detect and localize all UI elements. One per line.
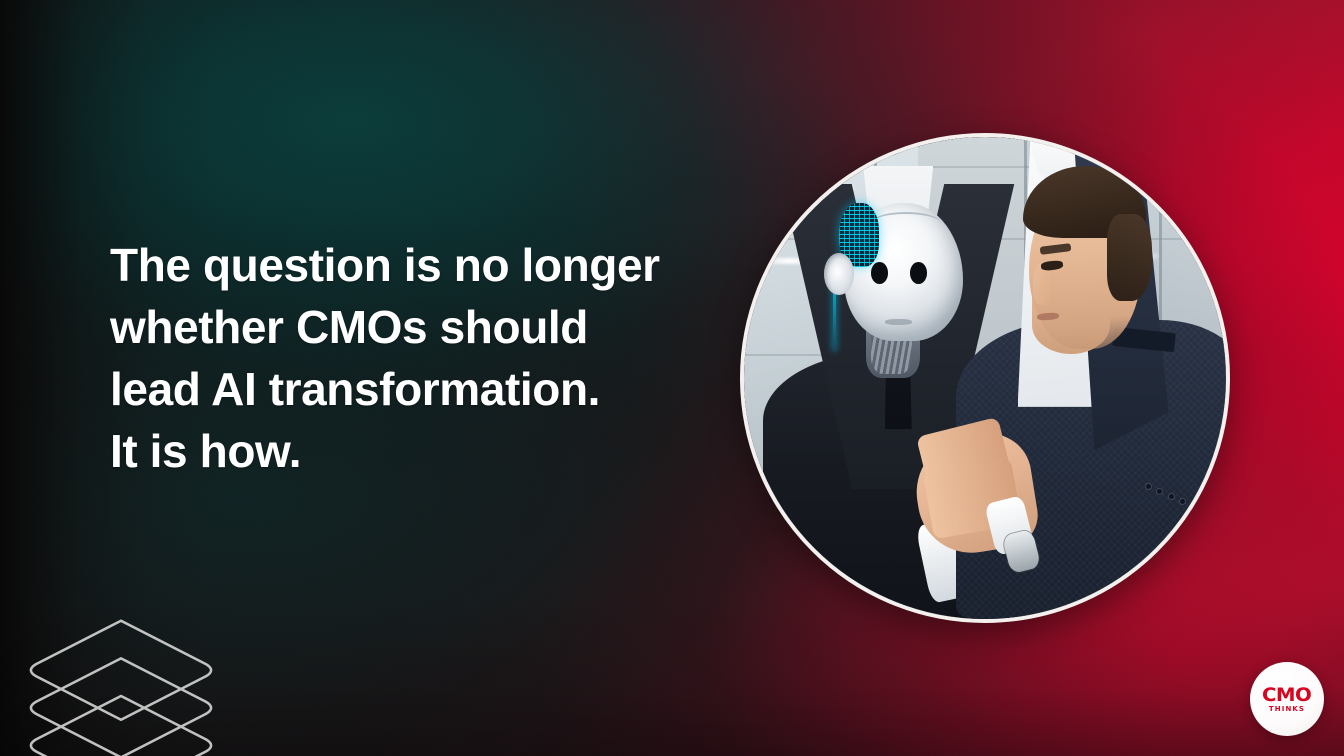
diamond-outline-top (31, 621, 211, 720)
headline: The question is no longer whether CMOs s… (110, 234, 710, 482)
social-card-canvas: The question is no longer whether CMOs s… (0, 0, 1344, 756)
hero-photo-circle (740, 133, 1230, 623)
robot-eye-left (871, 262, 888, 283)
diamond-outline-middle (31, 658, 211, 756)
hero-photo-inner (744, 137, 1226, 619)
headline-line-4: It is how. (110, 420, 710, 482)
man-hair-side (1107, 214, 1152, 301)
man-sleeve-button (1180, 499, 1185, 504)
headline-line-2: whether CMOs should (110, 296, 710, 358)
businessman-figure (956, 137, 1226, 619)
logo-tagline: THINKS (1269, 706, 1305, 713)
robot-skull-seam (871, 212, 941, 235)
cmo-thinks-logo[interactable]: CMO THINKS (1250, 662, 1324, 736)
man-sleeve-button (1169, 494, 1174, 499)
headline-line-1: The question is no longer (110, 234, 710, 296)
robot-mouth (885, 319, 912, 325)
stacked-diamonds-icon (22, 612, 220, 756)
logo-wordmark: CMO (1262, 686, 1311, 705)
robot-ear (824, 253, 854, 295)
robot-eye-right (910, 262, 927, 283)
stacked-diamonds-ornament (22, 612, 220, 756)
headline-line-3: lead AI transformation. (110, 358, 710, 420)
